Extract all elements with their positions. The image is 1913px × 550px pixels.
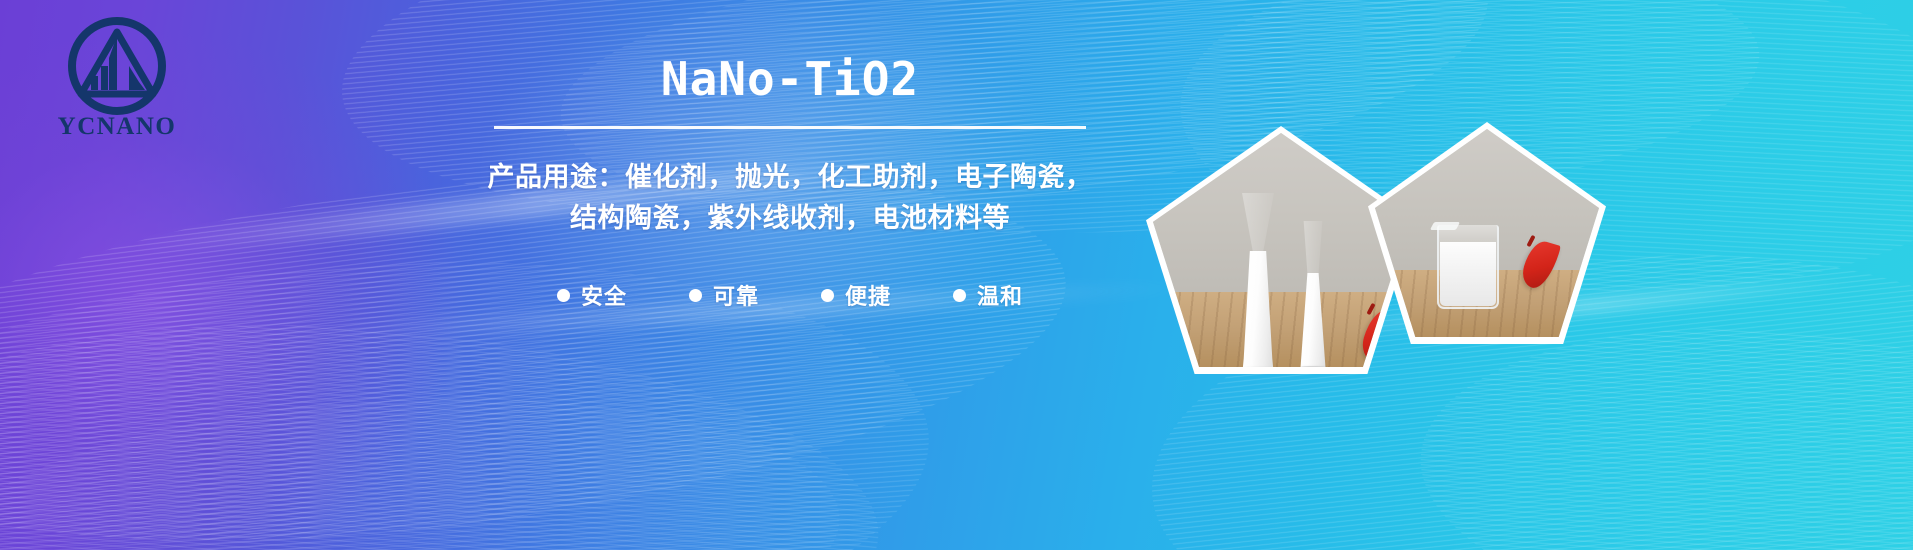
- brand-logo[interactable]: YCNANO: [32, 14, 202, 154]
- product-uses-line-1: 产品用途：催化剂，抛光，化工助剂，电子陶瓷，: [440, 157, 1140, 198]
- dot-icon: [557, 289, 570, 302]
- title-divider: [494, 126, 1086, 129]
- product-banner: YCNANO NaNo-TiO2 产品用途：催化剂，抛光，化工助剂，电子陶瓷， …: [0, 0, 1913, 550]
- banner-content: NaNo-TiO2 产品用途：催化剂，抛光，化工助剂，电子陶瓷， 结构陶瓷，紫外…: [440, 56, 1140, 311]
- feature-item-safe: 安全: [557, 279, 627, 311]
- feature-item-mild: 温和: [953, 279, 1023, 311]
- ycnano-triangle-circle-logo-icon: [65, 14, 169, 118]
- feature-list: 安全 可靠 便捷 温和: [440, 279, 1140, 311]
- vase-short: [1296, 221, 1330, 367]
- feature-label: 可靠: [713, 279, 759, 311]
- product-uses-line-2: 结构陶瓷，紫外线收剂，电池材料等: [440, 198, 1140, 239]
- feature-label: 安全: [581, 279, 627, 311]
- feature-item-convenient: 便捷: [821, 279, 891, 311]
- dot-icon: [689, 289, 702, 302]
- beaker-white-liquid-product-photo: [1368, 122, 1606, 344]
- feature-label: 便捷: [845, 279, 891, 311]
- dot-icon: [821, 289, 834, 302]
- beaker: [1437, 225, 1499, 309]
- brand-name: YCNANO: [32, 114, 202, 139]
- feature-item-reliable: 可靠: [689, 279, 759, 311]
- feature-label: 温和: [977, 279, 1023, 311]
- vase-tall: [1238, 193, 1278, 367]
- product-uses-text: 产品用途：催化剂，抛光，化工助剂，电子陶瓷， 结构陶瓷，紫外线收剂，电池材料等: [440, 157, 1140, 239]
- product-title: NaNo-TiO2: [440, 56, 1140, 102]
- dot-icon: [953, 289, 966, 302]
- white-vases-product-photo: [1146, 126, 1416, 374]
